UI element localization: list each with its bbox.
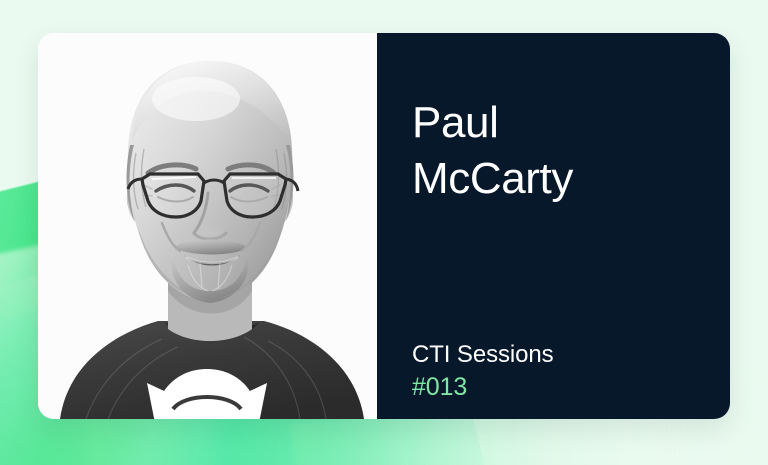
series-info-block: CTI Sessions #013 [412, 339, 554, 403]
speaker-name: Paul McCarty [412, 95, 573, 207]
speaker-portrait-image [38, 33, 377, 419]
speaker-info-panel: Paul McCarty CTI Sessions #013 [377, 33, 730, 419]
speaker-card-stage: Paul McCarty CTI Sessions #013 [0, 0, 768, 465]
speaker-photo-panel [38, 33, 377, 419]
speaker-card: Paul McCarty CTI Sessions #013 [38, 33, 730, 419]
episode-number: #013 [412, 371, 554, 403]
series-name: CTI Sessions [412, 339, 554, 371]
